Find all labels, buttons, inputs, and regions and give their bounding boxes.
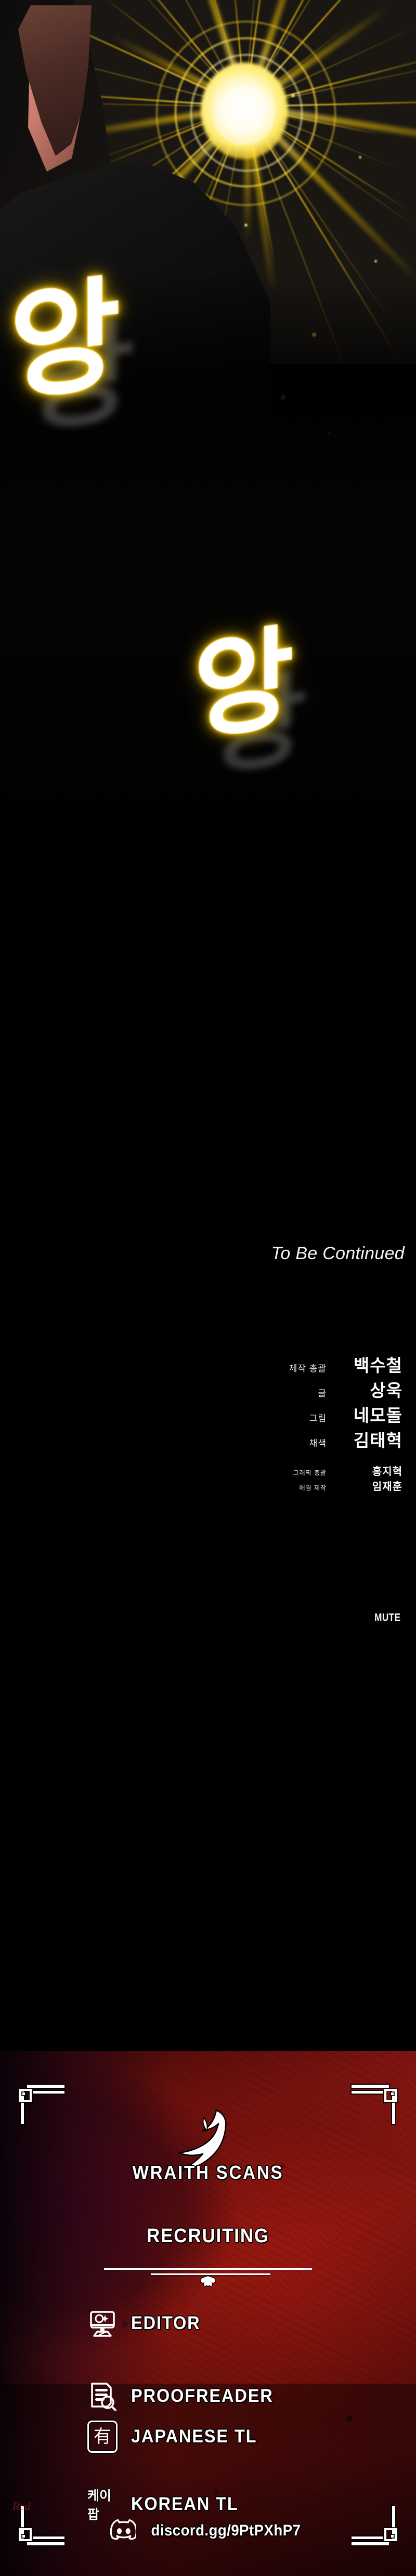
discord-icon xyxy=(109,2518,136,2543)
credit-role: 그림 xyxy=(249,1411,327,1424)
credit-name: 백수철 xyxy=(340,1352,402,1377)
credit-name: 상욱 xyxy=(340,1377,402,1402)
frame-corner-top-right xyxy=(350,2080,400,2124)
to-be-continued-text: To Be Continued xyxy=(271,1244,405,1264)
credit-name: 네모돌 xyxy=(340,1402,402,1427)
light-spark xyxy=(374,260,377,263)
ornament-icon xyxy=(193,2274,223,2288)
credit-spacer xyxy=(153,1452,402,1463)
discord-invite-row[interactable]: discord.gg/9PtPXhP7 xyxy=(0,2518,416,2543)
monitor-editing-icon xyxy=(87,2308,118,2338)
role-row-editor[interactable]: EDITOR xyxy=(0,2308,416,2338)
credit-role: 채색 xyxy=(249,1436,327,1449)
role-row-japanese-tl[interactable]: 有 JAPANESE TL xyxy=(0,2422,416,2452)
credit-row: 배경 제작 임재훈 xyxy=(153,1478,402,1493)
brand-title: WRAITH SCANS xyxy=(17,2162,399,2183)
light-spark xyxy=(244,224,248,227)
credit-name: 홍지혁 xyxy=(340,1463,402,1478)
document-magnifier-icon xyxy=(87,2381,118,2411)
studio-logo: MUTE xyxy=(374,1612,400,1624)
webtoon-page: 앙 앙 앙 앙 To Be Continued 제작 총괄 백수철 글 상욱 그… xyxy=(0,0,416,2576)
comic-art-panel: 앙 앙 앙 앙 xyxy=(0,0,416,1300)
light-spark xyxy=(291,94,295,97)
sfx-ang-secondary: 앙 xyxy=(194,623,293,747)
divider-line-top xyxy=(104,2268,312,2270)
hangul-kpop-icon: 케이팝 xyxy=(87,2489,118,2519)
credit-role: 글 xyxy=(249,1386,327,1399)
kanji-yuu-glyph: 有 xyxy=(87,2421,118,2453)
frame-corner-top-left xyxy=(16,2080,66,2124)
credit-role: 제작 총괄 xyxy=(249,1361,327,1374)
credit-row: 그래픽 총괄 홍지혁 xyxy=(153,1463,402,1478)
role-row-korean-tl[interactable]: 케이팝 KOREAN TL xyxy=(0,2489,416,2519)
credit-row: 제작 총괄 백수철 xyxy=(153,1352,402,1377)
credit-name: 김태혁 xyxy=(340,1427,402,1452)
role-label-editor: EDITOR xyxy=(131,2313,201,2334)
light-spark xyxy=(359,156,361,159)
role-label-japanese-tl: JAPANESE TL xyxy=(131,2426,257,2447)
energy-swirl xyxy=(190,54,303,172)
role-row-proofreader[interactable]: PROOFREADER xyxy=(0,2381,416,2411)
banner-watermark: Red xyxy=(12,2500,30,2513)
kanji-yuu-icon: 有 xyxy=(87,2422,118,2452)
role-label-korean-tl: KOREAN TL xyxy=(131,2494,239,2515)
sfx-ang-primary: 앙 xyxy=(10,273,120,409)
credit-role: 그래픽 총괄 xyxy=(249,1468,327,1477)
credit-role: 배경 제작 xyxy=(249,1483,327,1492)
credit-row: 그림 네모돌 xyxy=(153,1402,402,1427)
credit-row: 글 상욱 xyxy=(153,1377,402,1402)
discord-invite-link[interactable]: discord.gg/9PtPXhP7 xyxy=(151,2522,301,2540)
credit-row: 채색 김태혁 xyxy=(153,1427,402,1452)
credits-block: 제작 총괄 백수철 글 상욱 그림 네모돌 채색 김태혁 그래픽 총괄 홍지혁 … xyxy=(153,1352,402,1493)
recruiting-heading: RECRUITING xyxy=(17,2225,399,2247)
role-label-proofreader: PROOFREADER xyxy=(131,2386,274,2407)
credit-name: 임재훈 xyxy=(340,1478,402,1493)
